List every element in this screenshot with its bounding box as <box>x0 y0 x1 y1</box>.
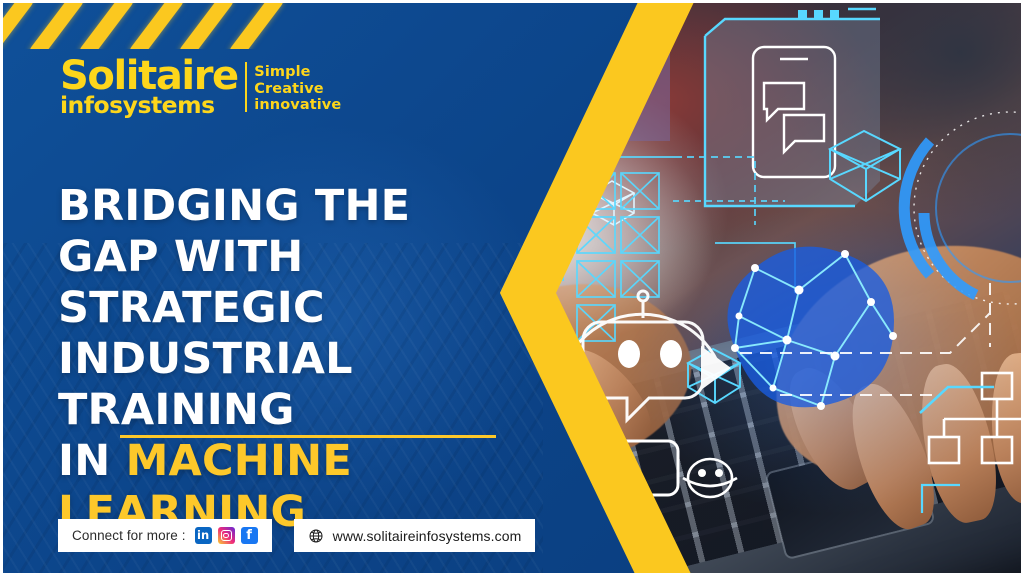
logo-tagline: Simple Creative innovative <box>254 64 341 115</box>
headline: BRIDGING THE GAP WITH STRATEGIC INDUSTRI… <box>58 181 528 538</box>
logo-wordmark: Solitaire infosystems <box>60 60 238 115</box>
website-url: www.solitaireinfosystems.com <box>333 528 522 544</box>
stripe-1 <box>3 3 36 49</box>
logo-sub-text: infosystems <box>60 96 238 116</box>
stripe-6 <box>227 3 286 49</box>
facebook-icon[interactable]: f <box>241 527 258 544</box>
tagline-line-3: innovative <box>254 97 341 113</box>
instagram-icon[interactable] <box>218 527 235 544</box>
tagline-line-1: Simple <box>254 64 341 80</box>
company-logo[interactable]: Solitaire infosystems Simple Creative in… <box>60 60 341 115</box>
footer-bar: Connect for more : in f www.solitaireinf… <box>58 519 535 552</box>
headline-line-5-prefix: IN <box>58 436 126 486</box>
social-links: in f <box>195 527 258 544</box>
stripe-5 <box>177 3 236 49</box>
logo-divider <box>245 62 248 112</box>
stripe-3 <box>77 3 136 49</box>
connect-box: Connect for more : in f <box>58 519 272 552</box>
diagonal-stripes-decoration <box>3 3 323 49</box>
globe-icon <box>308 528 324 544</box>
headline-line-2: GAP WITH <box>58 232 528 283</box>
linkedin-icon[interactable]: in <box>195 527 212 544</box>
headline-underline <box>120 435 496 438</box>
marketing-banner: Solitaire infosystems Simple Creative in… <box>0 0 1024 576</box>
logo-main-text: Solitaire <box>60 60 238 94</box>
headline-line-3: STRATEGIC <box>58 283 528 334</box>
tagline-line-2: Creative <box>254 81 341 97</box>
stripe-2 <box>27 3 86 49</box>
connect-label: Connect for more : <box>72 528 186 543</box>
website-box[interactable]: www.solitaireinfosystems.com <box>294 519 536 552</box>
headline-line-1: BRIDGING THE <box>58 181 528 232</box>
headline-line-4: INDUSTRIAL TRAINING <box>58 334 528 436</box>
stripe-4 <box>127 3 186 49</box>
